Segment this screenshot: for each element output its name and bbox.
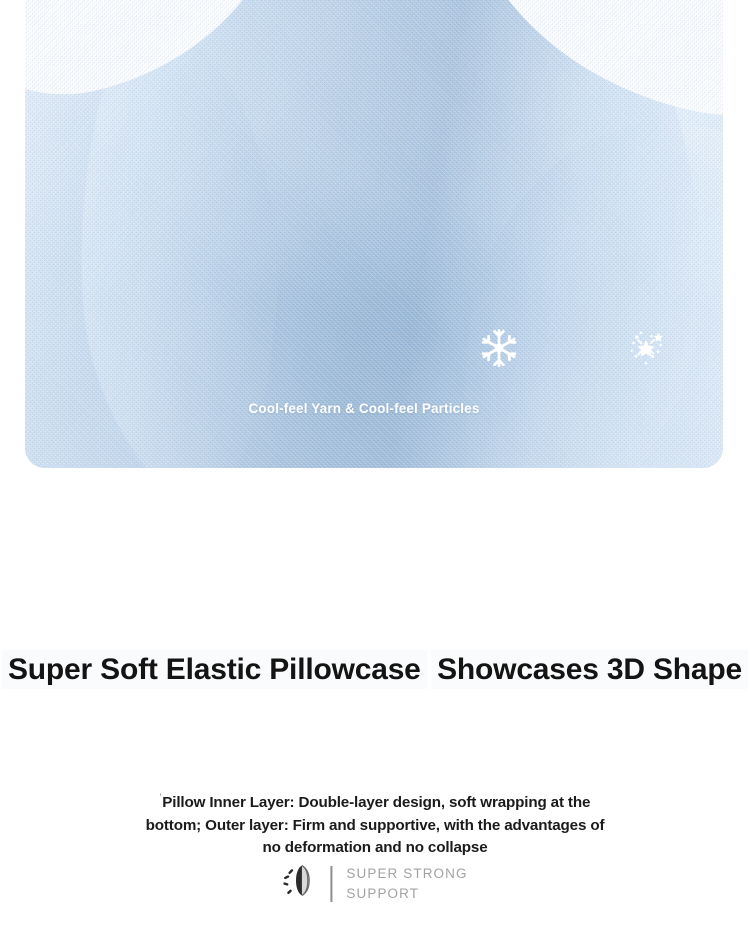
lockup-divider xyxy=(330,866,332,902)
pillow-support-mark-icon xyxy=(282,862,316,905)
product-description: ′Pillow Inner Layer: Double-layer design… xyxy=(140,791,610,859)
hero-caption: Cool-feel Yarn & Cool-feel Particles xyxy=(0,401,750,416)
headline-block: Super Soft Elastic Pillowcase Showcases … xyxy=(0,608,750,689)
hero-feature-icons xyxy=(478,326,668,370)
lockup-tagline: SUPER STRONG SUPPORT xyxy=(346,864,467,903)
hero-bottom-shading xyxy=(25,0,723,468)
hero-photo xyxy=(25,0,723,468)
cooling-particles-icon xyxy=(624,326,668,370)
snowflake-icon xyxy=(478,327,520,369)
hero-photo-image xyxy=(25,0,723,468)
footer-logo-lockup: SUPER STRONG SUPPORT xyxy=(282,862,467,905)
headline-primary: Super Soft Elastic Pillowcase xyxy=(2,650,427,689)
headline-secondary: Showcases 3D Shape xyxy=(431,650,748,689)
description-text: Pillow Inner Layer: Double-layer design,… xyxy=(146,794,605,856)
